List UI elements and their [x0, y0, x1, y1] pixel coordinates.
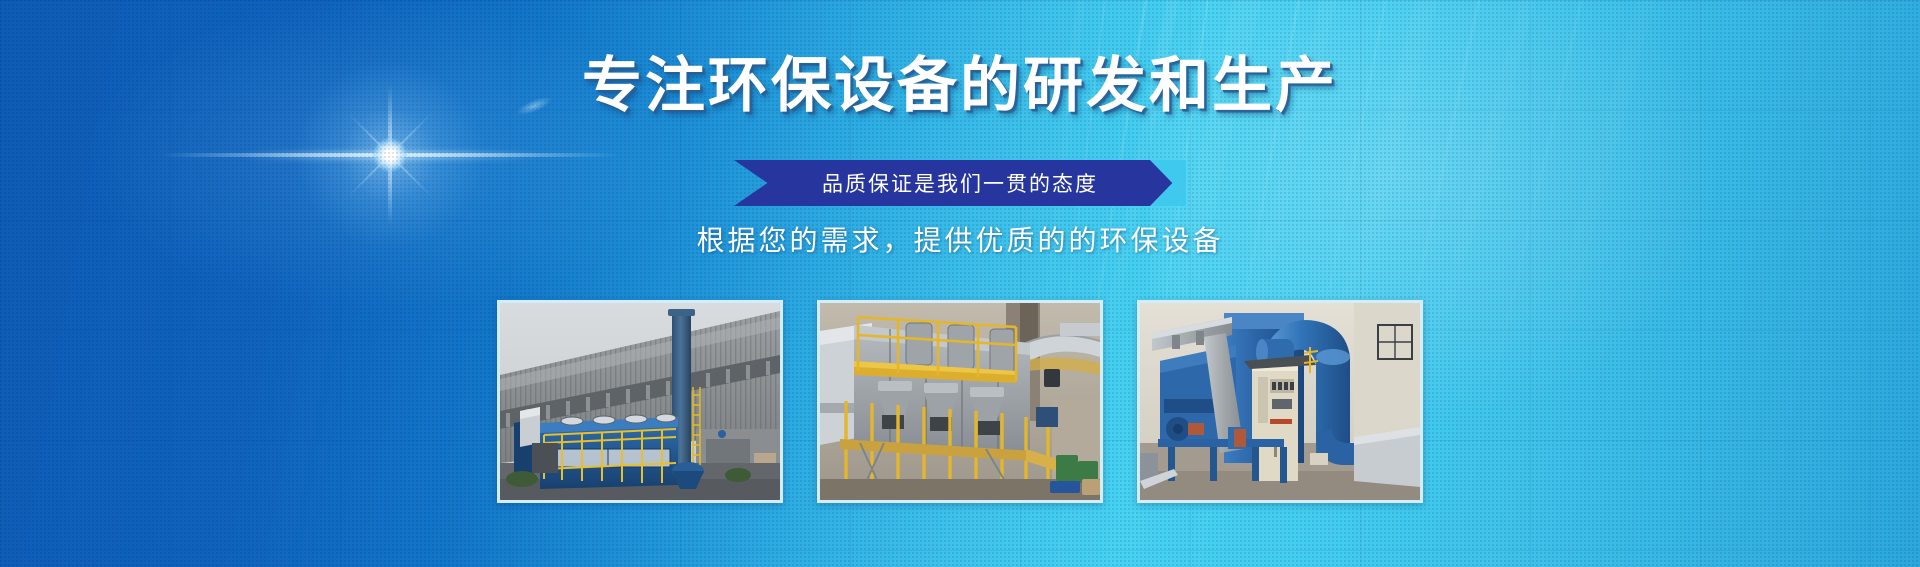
photo-blue-duct-system[interactable]	[1137, 300, 1423, 503]
ribbon-badge: 品质保证是我们一贯的态度	[734, 160, 1186, 206]
photo-gallery	[0, 300, 1920, 510]
banner-tagline: 根据您的需求，提供优质的的环保设备	[0, 219, 1920, 259]
photo-catalytic-oxidizer-plant[interactable]	[497, 300, 783, 503]
banner-headline: 专注环保设备的研发和生产	[0, 54, 1920, 118]
photo-indoor-treatment-line[interactable]	[817, 300, 1103, 503]
promo-banner: 专注环保设备的研发和生产 品质保证是我们一贯的态度 根据您的需求，提供优质的的环…	[0, 0, 1920, 567]
ribbon-container: 品质保证是我们一贯的态度	[0, 160, 1920, 206]
ribbon-label: 品质保证是我们一贯的态度	[822, 168, 1098, 198]
